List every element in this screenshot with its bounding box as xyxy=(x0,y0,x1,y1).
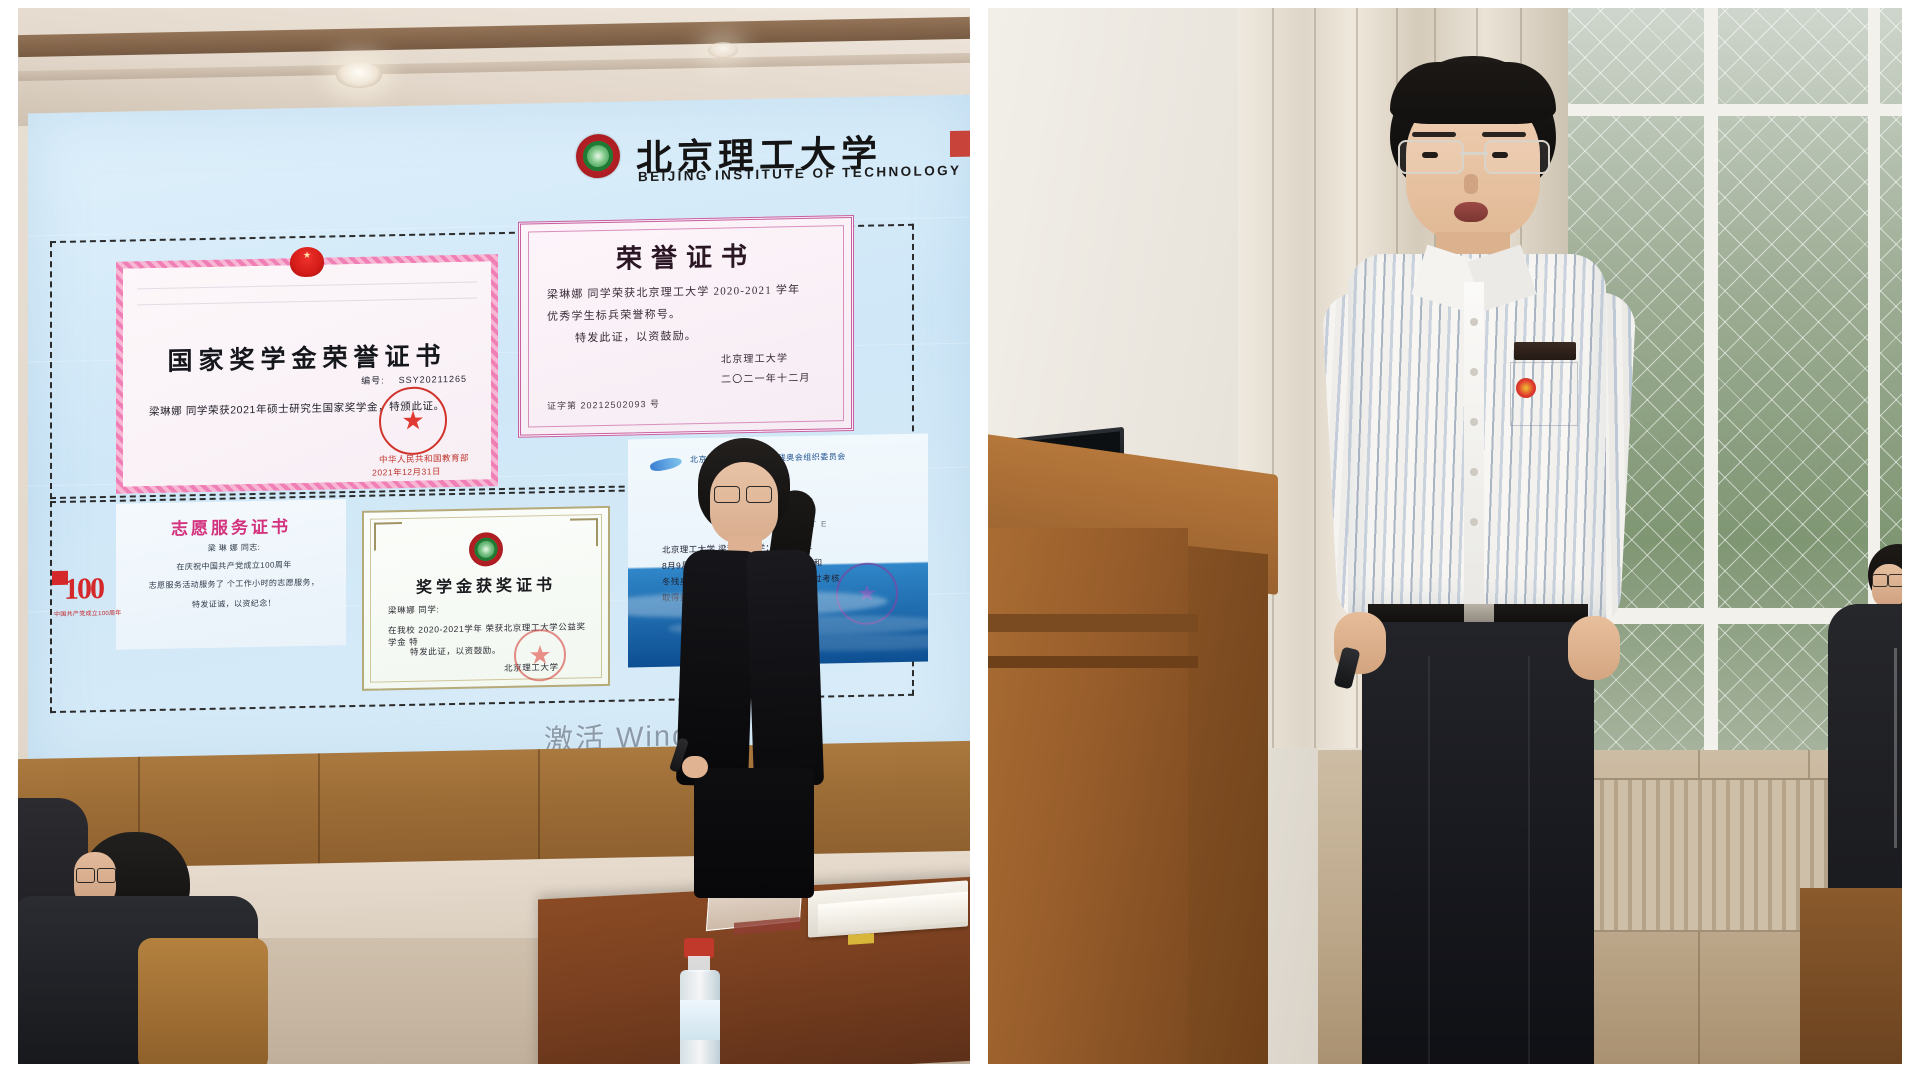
certificate-scholarship-award: 奖学金获奖证书 梁琳娜 同学: 在我校 2020-2021学年 荣获北京理工大学… xyxy=(362,506,610,691)
screen-edge-marker xyxy=(950,131,970,157)
certificate-number-value: SSY20211265 xyxy=(399,374,467,385)
lectern-trim-lower xyxy=(988,656,1198,668)
certificate-title: 奖学金获奖证书 xyxy=(364,570,608,599)
left-photo-panel: 北京理工大学 BEIJING INSTITUTE OF TECHNOLOGY 国… xyxy=(18,8,970,1072)
glasses-icon xyxy=(1872,574,1902,586)
seal-date: 2021年12月31日 xyxy=(372,465,441,478)
ceiling-beam xyxy=(18,17,970,57)
bottle-cap xyxy=(684,938,714,958)
frame-left xyxy=(0,0,18,1080)
hair-fringe xyxy=(1390,62,1556,124)
skirt xyxy=(694,768,814,898)
wooden-chair xyxy=(1800,888,1902,1072)
jacket-zipper xyxy=(1894,648,1897,848)
panel-gutter xyxy=(970,0,988,1080)
seal-caption: 中华人民共和国教育部 xyxy=(379,452,469,466)
left-photo: 北京理工大学 BEIJING INSTITUTE OF TECHNOLOGY 国… xyxy=(18,8,970,1072)
water-bottle xyxy=(678,938,722,1072)
certificate-number: 证字第 20212502093 号 xyxy=(547,397,660,412)
certificate-line-2: 在庆祝中国共产党成立100周年 xyxy=(142,558,326,576)
projector-screen: 北京理工大学 BEIJING INSTITUTE OF TECHNOLOGY 国… xyxy=(28,94,970,773)
certificate-line-1: 梁 琳 娜 同志: xyxy=(142,540,326,558)
badge-number: 100 xyxy=(64,572,103,607)
right-photo xyxy=(988,8,1902,1072)
male-presenter xyxy=(1278,56,1708,1072)
shirt-placket xyxy=(1464,282,1484,612)
right-hand xyxy=(1568,616,1620,680)
certificate-title: 荣誉证书 xyxy=(521,234,851,278)
ceiling-downlight xyxy=(336,62,382,88)
glasses-icon xyxy=(714,486,772,502)
frame-right xyxy=(1902,0,1920,1080)
bit-university-logo-icon xyxy=(576,134,620,179)
certificate-line-4: 特发证诚，以资纪念！ xyxy=(142,596,326,614)
face xyxy=(710,462,778,544)
party-emblem-pin-icon xyxy=(1516,378,1536,398)
certificate-national-scholarship: 国家奖学金荣誉证书 编号: SSY20211265 梁琳娜 同学荣获2021年硕… xyxy=(116,254,498,494)
certificate-line-3: 志愿服务活动服务了 个工作小时的志愿服务， xyxy=(142,576,326,594)
badge-caption: 中国共产党成立100周年 xyxy=(54,608,122,618)
ceiling-beam-secondary xyxy=(18,53,970,81)
nose xyxy=(1464,174,1478,194)
blazer-right xyxy=(746,549,824,787)
certificate-title: 志愿服务证书 xyxy=(116,511,346,541)
certificate-honour: 荣誉证书 梁琳娜 同学荣获北京理工大学 2020-2021 学年 优秀学生标兵荣… xyxy=(518,215,854,438)
wooden-lectern xyxy=(988,528,1188,1072)
female-presenter xyxy=(666,438,826,898)
certificate-number-label: 编号: xyxy=(361,375,385,385)
right-photo-panel xyxy=(988,8,1902,1072)
frame-top xyxy=(0,0,1920,8)
party-100-anniversary-badge-icon: 100 中国共产党成立100周年 xyxy=(50,567,146,625)
certificate-number: 编号: SSY20211265 xyxy=(361,372,467,387)
photo-composite: 北京理工大学 BEIJING INSTITUTE OF TECHNOLOGY 国… xyxy=(0,0,1920,1080)
mouth xyxy=(1454,202,1488,222)
name-badge xyxy=(1514,342,1576,360)
hand xyxy=(682,756,708,778)
glasses-icon xyxy=(76,868,116,882)
lectern-trim-upper xyxy=(988,614,1198,632)
glasses-icon xyxy=(1398,140,1550,172)
sticky-note xyxy=(848,933,874,945)
certificate-signature-2: 二〇二一年十二月 xyxy=(721,368,829,385)
certificate-signature-1: 北京理工大学 xyxy=(721,348,829,365)
frame-bottom xyxy=(0,1064,1920,1080)
trousers xyxy=(1362,622,1594,1072)
blazer-left xyxy=(676,549,756,787)
national-emblem-icon xyxy=(290,247,324,278)
wooden-chair-back xyxy=(138,938,268,1072)
ministry-seal-icon xyxy=(379,386,447,455)
bottle-label xyxy=(680,1000,720,1040)
certificate-volunteer: 志愿服务证书 梁 琳 娜 同志: 在庆祝中国共产党成立100周年 志愿服务活动服… xyxy=(116,499,346,650)
ceiling-downlight-2 xyxy=(708,42,738,58)
